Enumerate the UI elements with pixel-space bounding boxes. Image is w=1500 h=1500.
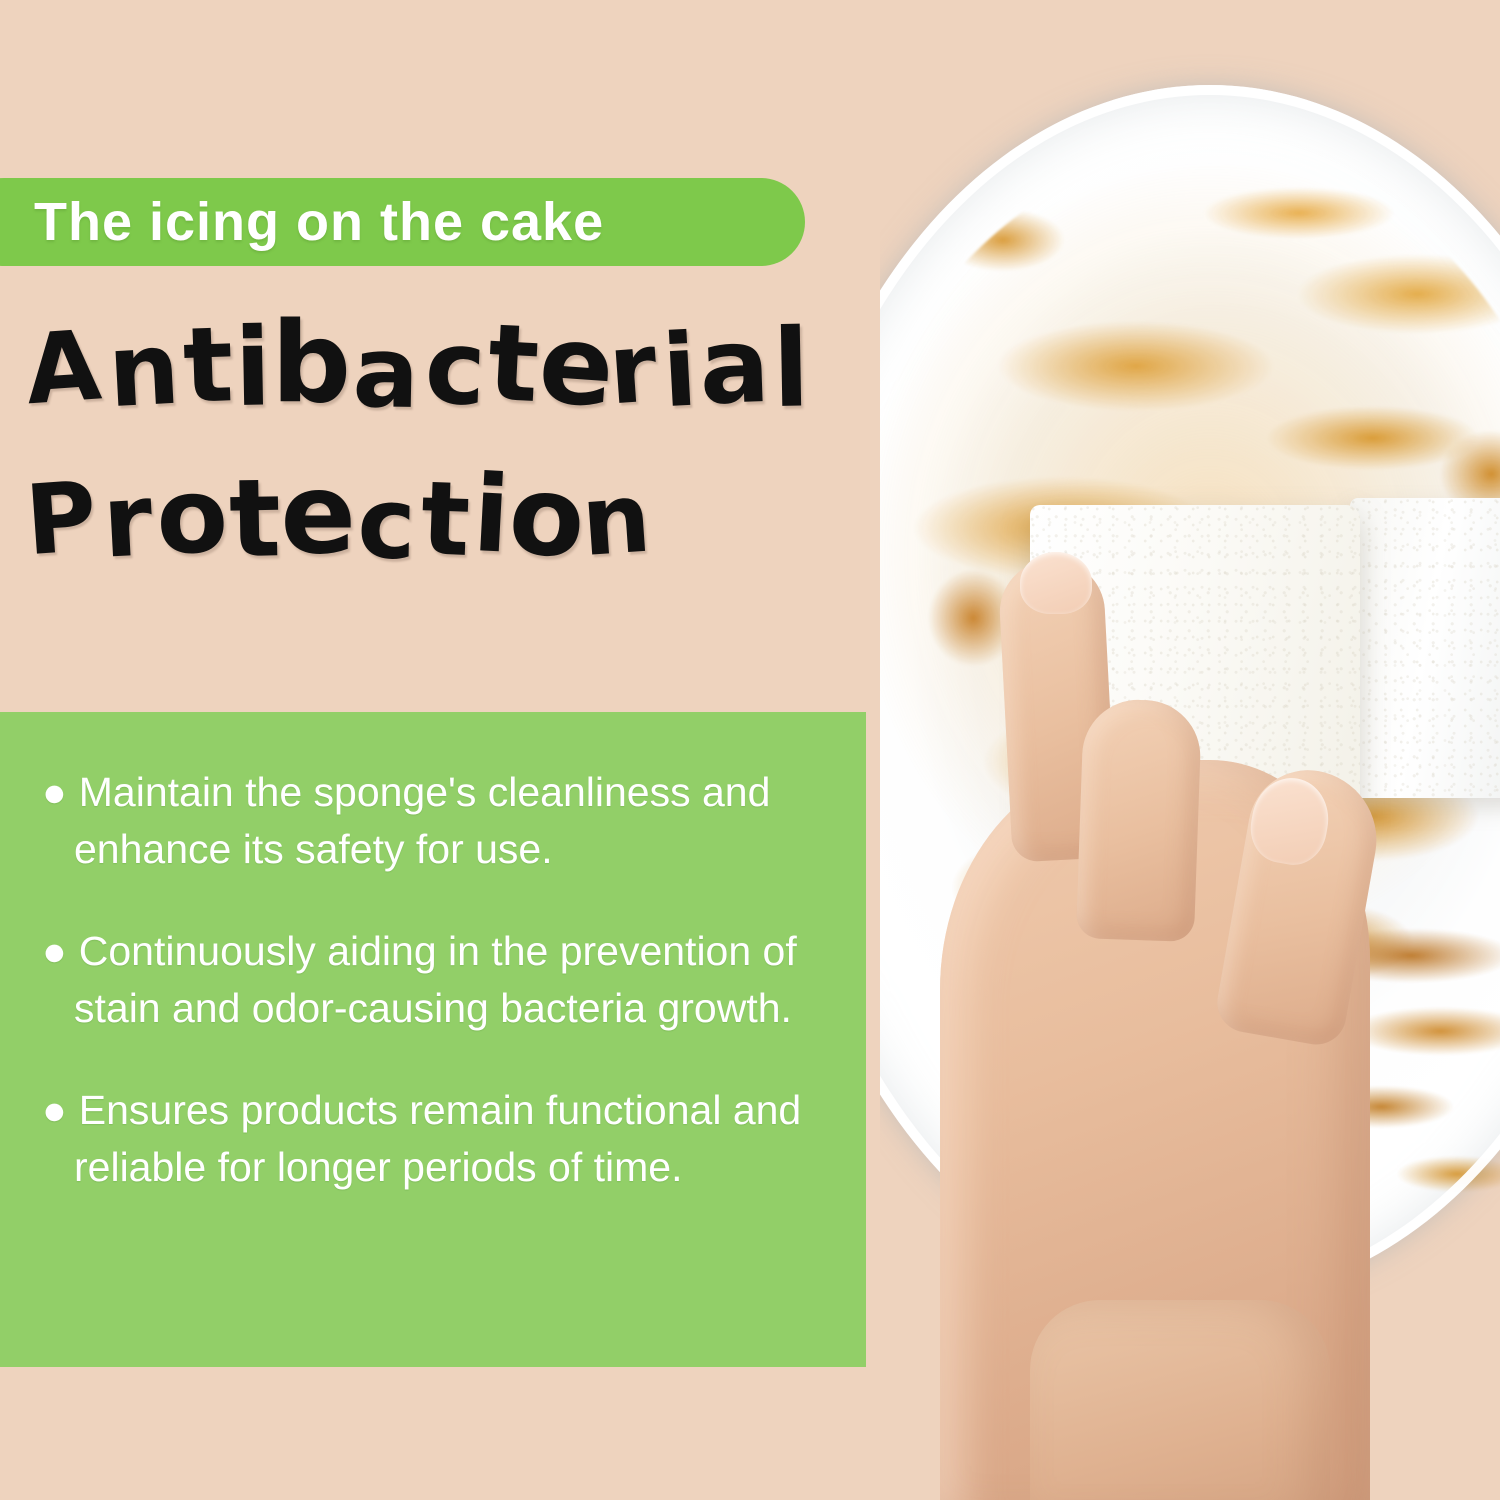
feature-list-block: ●Maintain the sponge's cleanliness and e… (0, 712, 866, 1367)
headline-line-1: Antibacterial (26, 292, 926, 443)
bullet-icon: ● (42, 1087, 79, 1133)
feature-text: Ensures products remain functional and r… (74, 1087, 801, 1190)
tagline-banner: The icing on the cake (0, 178, 805, 266)
hand-wrist (1030, 1300, 1330, 1500)
list-item: ●Continuously aiding in the prevention o… (42, 923, 822, 1036)
product-photo (880, 0, 1500, 1500)
bullet-icon: ● (42, 769, 79, 815)
hand-middle-finger (1076, 698, 1202, 942)
bullet-icon: ● (42, 928, 79, 974)
page-title: Antibacterial Protection (26, 292, 926, 594)
headline-line-2: Protection (26, 443, 926, 594)
list-item: ●Ensures products remain functional and … (42, 1082, 822, 1195)
list-item: ●Maintain the sponge's cleanliness and e… (42, 764, 822, 877)
product-feature-poster: The icing on the cake Antibacterial Prot… (0, 0, 1500, 1500)
sponge-texture (1350, 498, 1500, 798)
feature-text: Maintain the sponge's cleanliness and en… (74, 769, 770, 872)
tagline-text: The icing on the cake (34, 191, 604, 253)
feature-text: Continuously aiding in the prevention of… (74, 928, 797, 1031)
sponge-back-edge (1350, 498, 1500, 798)
index-fingernail (1020, 552, 1092, 614)
